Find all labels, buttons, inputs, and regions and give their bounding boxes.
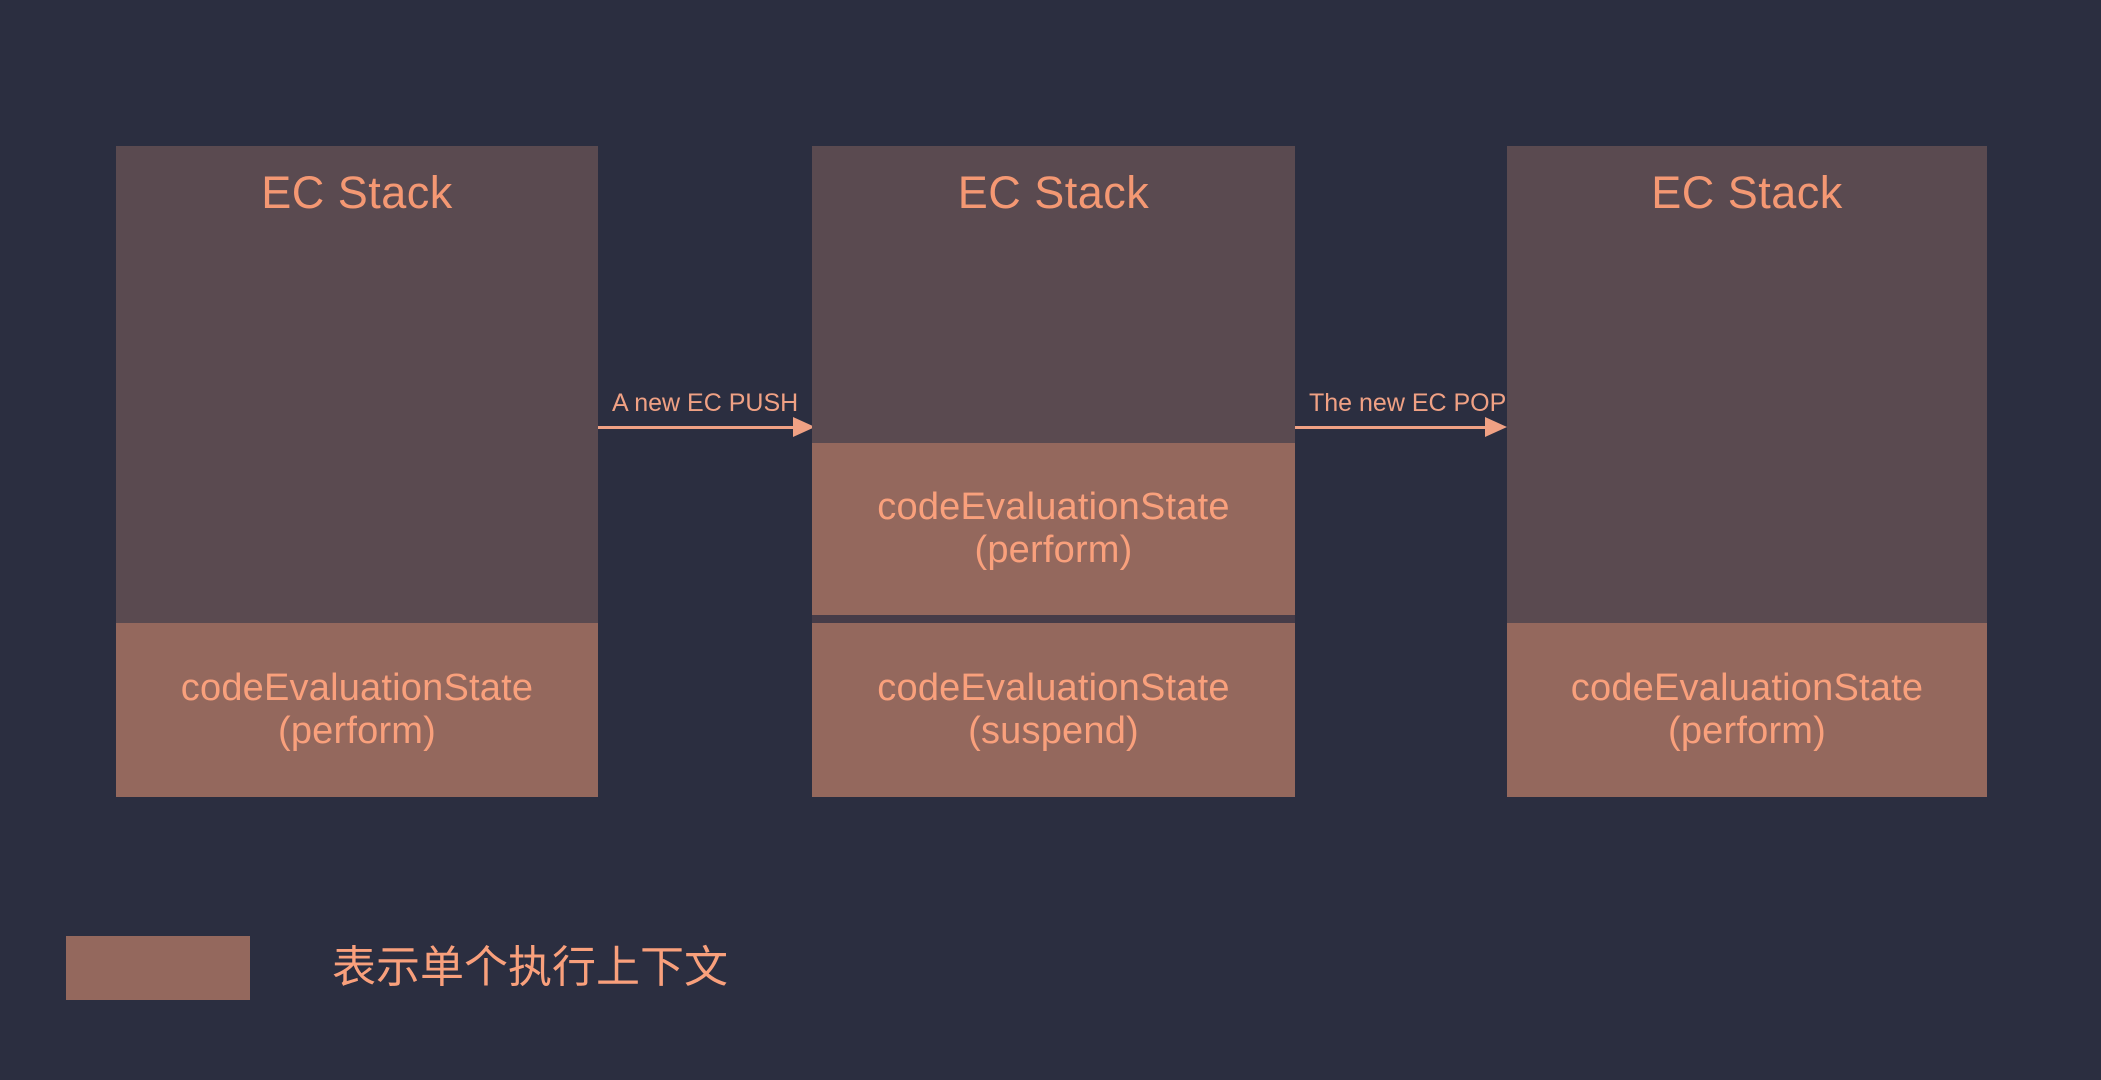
arrow-ec-push-shaft xyxy=(598,426,803,429)
ec-stack-3-frame-0-name: codeEvaluationState xyxy=(1571,667,1923,710)
arrow-ec-pop: The new EC POP xyxy=(1295,388,1507,448)
ec-stack-3: EC Stack codeEvaluationState (perform) xyxy=(1507,146,1987,797)
legend: 表示单个执行上下文 xyxy=(66,936,728,1000)
ec-stack-3-frame-0-state: (perform) xyxy=(1668,710,1826,753)
diagram-canvas: EC Stack codeEvaluationState (perform) A… xyxy=(0,0,2101,1080)
ec-stack-3-frame-0: codeEvaluationState (perform) xyxy=(1507,623,1987,797)
ec-stack-1-frame-0-name: codeEvaluationState xyxy=(181,667,533,710)
ec-stack-3-title: EC Stack xyxy=(1507,170,1987,215)
ec-stack-2-frame-0: codeEvaluationState (perform) xyxy=(812,443,1295,615)
arrow-ec-pop-shaft xyxy=(1295,426,1495,429)
legend-label: 表示单个执行上下文 xyxy=(332,946,728,990)
ec-stack-1: EC Stack codeEvaluationState (perform) xyxy=(116,146,598,797)
arrow-ec-pop-label: The new EC POP xyxy=(1309,388,1506,418)
ec-stack-2-frame-1: codeEvaluationState (suspend) xyxy=(812,623,1295,797)
ec-stack-1-title: EC Stack xyxy=(116,170,598,215)
ec-stack-2-frame-1-state: (suspend) xyxy=(968,710,1139,753)
arrow-ec-push: A new EC PUSH xyxy=(598,388,815,448)
ec-stack-2-frame-0-name: codeEvaluationState xyxy=(877,486,1229,529)
arrow-ec-push-label: A new EC PUSH xyxy=(612,388,798,418)
legend-color-swatch xyxy=(66,936,250,1000)
ec-stack-2-frame-1-name: codeEvaluationState xyxy=(877,667,1229,710)
arrow-right-icon xyxy=(1485,417,1507,437)
ec-stack-1-frame-0: codeEvaluationState (perform) xyxy=(116,623,598,797)
ec-stack-2-title: EC Stack xyxy=(812,170,1295,215)
ec-stack-2-frame-0-state: (perform) xyxy=(974,529,1132,572)
ec-stack-1-frame-0-state: (perform) xyxy=(278,710,436,753)
ec-stack-2-frame-divider xyxy=(812,615,1295,623)
ec-stack-2: EC Stack codeEvaluationState (perform) c… xyxy=(812,146,1295,797)
